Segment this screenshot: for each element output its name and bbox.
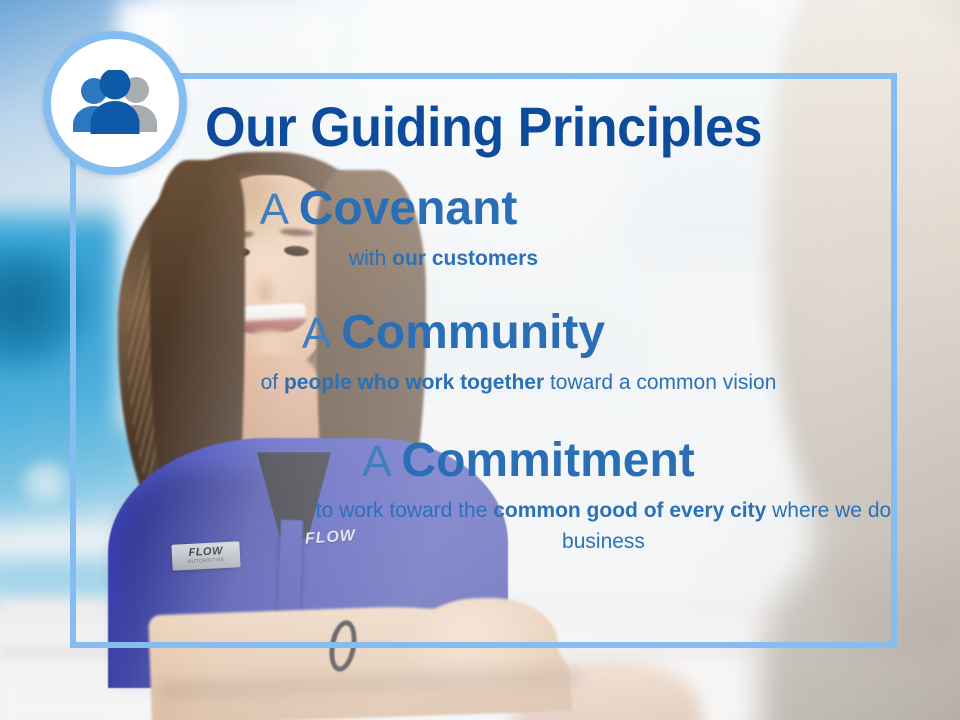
principle-body: of people who work together toward a com… (70, 367, 837, 398)
principles-list: A Covenant with our customers A Communit… (70, 180, 897, 557)
page-title: Our Guiding Principles (99, 96, 868, 158)
principle-keyword: Community (341, 306, 605, 359)
principle-heading: A Commitment (160, 436, 897, 487)
blurred-car-emblem (18, 460, 74, 512)
principle-keyword: Covenant (299, 182, 518, 235)
principle-keyword: Commitment (401, 434, 694, 487)
principle-article: A (302, 309, 329, 358)
guiding-principles-poster: FLOW AUTOMOTIVE FLOW Our Guiding Princip… (0, 0, 960, 720)
principle-community: A Community of people who work together … (70, 308, 897, 398)
body-strong: our customers (392, 247, 538, 270)
body-strong: people who work together (284, 371, 544, 394)
principle-heading: A Community (70, 308, 837, 359)
body-lead: to work toward the (316, 499, 493, 522)
principle-article: A (260, 185, 287, 234)
body-lead: with (349, 247, 392, 270)
principle-commitment: A Commitment to work toward the common g… (70, 436, 897, 557)
principle-covenant: A Covenant with our customers (70, 184, 897, 274)
principle-body: to work toward the common good of every … (160, 495, 897, 557)
body-tail: toward a common vision (544, 371, 776, 394)
principle-article: A (362, 437, 389, 486)
principle-body: with our customers (70, 243, 707, 274)
principle-heading: A Covenant (70, 184, 707, 235)
body-lead: of (261, 371, 284, 394)
body-strong: common good of every city (493, 499, 766, 522)
